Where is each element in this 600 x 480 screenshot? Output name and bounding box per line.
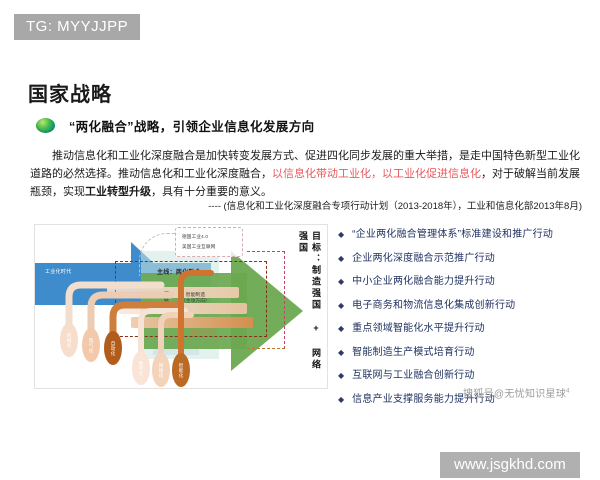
oval-networking-label: 网络化 xyxy=(158,363,164,378)
list-item: ◆ “企业两化融合管理体系”标准建设和推广行动 xyxy=(338,228,590,242)
tg-watermark-badge: TG: MYYJJPP xyxy=(14,14,140,40)
paragraph-highlight-2: 以工业化促进信息化 xyxy=(382,168,481,180)
diamond-bullet-icon: ◆ xyxy=(338,228,344,242)
section-heading-label: “两化融合”战略，引领企业信息化发展方向 xyxy=(69,116,315,135)
diamond-bullet-icon: ◆ xyxy=(338,393,344,407)
goal-vertical-label: 目标：制造强国 + 网络强国 xyxy=(297,231,323,381)
list-item-label: 互联网与工业融合创新行动 xyxy=(352,369,474,383)
list-item: ◆ 互联网与工业融合创新行动 xyxy=(338,369,590,383)
diamond-bullet-icon: ◆ xyxy=(338,299,344,313)
list-item: ◆ 重点领域智能化水平提升行动 xyxy=(338,322,590,336)
list-item-label: “企业两化融合管理体系”标准建设和推广行动 xyxy=(352,228,553,242)
list-item-label: 企业两化深度融合示范推广行动 xyxy=(352,252,495,266)
sohu-watermark: 搜狐号@无忧知识星球4 xyxy=(463,385,570,400)
list-item: ◆ 智能制造生产模式培育行动 xyxy=(338,346,590,360)
citation-line: ---- (信息化和工业化深度融合专项行动计划（2013-2018年），工业和信… xyxy=(30,198,582,212)
diamond-bullet-icon: ◆ xyxy=(338,346,344,360)
paragraph-text-3: ，具有十分重要的意义。 xyxy=(151,186,272,198)
diamond-bullet-icon: ◆ xyxy=(338,369,344,383)
oval-digitization: 数字化 xyxy=(132,351,150,385)
oval-networking: 网络化 xyxy=(152,353,170,387)
site-watermark-badge: www.jsgkhd.com xyxy=(440,452,580,478)
paragraph-bold-term: 工业转型升级 xyxy=(85,186,151,198)
list-item: ◆ 中小企业两化融合能力提升行动 xyxy=(338,275,590,289)
oval-automation: 自动化 xyxy=(104,331,122,365)
list-item-label: 中小企业两化融合能力提升行动 xyxy=(352,275,495,289)
oval-automation-label: 自动化 xyxy=(110,341,116,356)
oval-mechanization: 机械化 xyxy=(60,323,78,357)
section-heading: “两化融合”战略，引领企业信息化发展方向 xyxy=(36,116,315,135)
sohu-watermark-label: 搜狐号@无忧知识星球 xyxy=(463,389,566,400)
oval-digitization-label: 数字化 xyxy=(138,361,144,376)
paragraph-highlight-1: 以信息化带动工业化， xyxy=(272,168,382,180)
oval-mechanization-label: 机械化 xyxy=(66,333,72,348)
oval-electrification: 电气化 xyxy=(82,328,100,362)
body-paragraph: 推动信息化和工业化深度融合是加快转变发展方式、促进四化同步发展的重大举措，是走中… xyxy=(30,148,580,201)
oval-electrification-label: 电气化 xyxy=(88,338,94,353)
oval-intelligence-label: 智能化 xyxy=(178,363,184,378)
diamond-bullet-icon: ◆ xyxy=(338,322,344,336)
sphere-bullet-icon xyxy=(36,118,55,133)
list-item-label: 电子商务和物流信息化集成创新行动 xyxy=(352,299,515,313)
list-item: ◆ 企业两化深度融合示范推广行动 xyxy=(338,252,590,266)
page-number: 4 xyxy=(566,389,570,395)
page-title: 国家战略 xyxy=(28,78,112,107)
list-item-label: 智能制造生产模式培育行动 xyxy=(352,346,474,360)
oval-intelligence: 智能化 xyxy=(172,353,190,387)
diamond-bullet-icon: ◆ xyxy=(338,252,344,266)
list-item: ◆ 电子商务和物流信息化集成创新行动 xyxy=(338,299,590,313)
strategy-diagram: 工业化时代 信息化时代 德国工业4.0 美国工业互联网 主线：两化融合 智能制造… xyxy=(34,224,328,389)
diamond-bullet-icon: ◆ xyxy=(338,275,344,289)
list-item-label: 重点领域智能化水平提升行动 xyxy=(352,322,485,336)
